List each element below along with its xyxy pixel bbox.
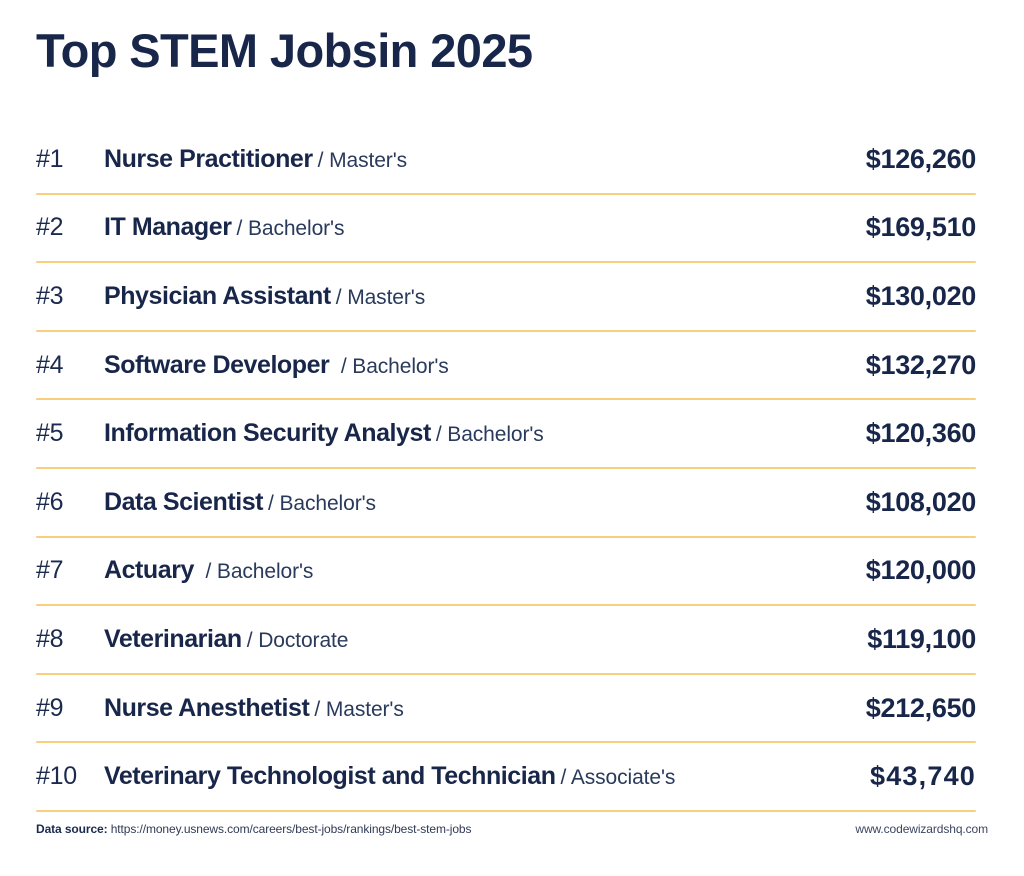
- job-title: Veterinarian: [104, 625, 242, 653]
- job-degree: / Doctorate: [247, 629, 349, 652]
- job-title: Nurse Anesthetist: [104, 694, 309, 722]
- job-degree: / Master's: [318, 149, 407, 172]
- job-rank: #6: [36, 488, 104, 517]
- job-title: Software Developer: [104, 351, 336, 379]
- job-salary: $132,270: [866, 350, 976, 381]
- job-name-cell: Nurse Practitioner/ Master's: [104, 145, 866, 174]
- job-name-cell: Information Security Analyst/ Bachelor's: [104, 419, 866, 448]
- job-degree: / Master's: [336, 286, 425, 309]
- job-degree: / Bachelor's: [205, 560, 313, 583]
- job-salary: $120,360: [866, 418, 976, 449]
- footer-source-label: Data source:: [36, 822, 108, 836]
- job-name-cell: Veterinarian/ Doctorate: [104, 625, 867, 654]
- footer-source: Data source: https://money.usnews.com/ca…: [36, 822, 471, 836]
- job-row: #1Nurse Practitioner/ Master's$126,260: [36, 126, 976, 193]
- job-row: #9Nurse Anesthetist/ Master's$212,650: [36, 675, 976, 742]
- job-rank: #5: [36, 419, 104, 448]
- job-row: #2IT Manager/ Bachelor's$169,510: [36, 195, 976, 262]
- job-rank: #3: [36, 282, 104, 311]
- job-salary: $119,100: [867, 624, 976, 655]
- job-salary: $120,000: [866, 555, 976, 586]
- job-row: #10Veterinary Technologist and Technicia…: [36, 743, 976, 810]
- page-title-main: Top STEM Jobs: [36, 24, 377, 77]
- job-row: #4Software Developer / Bachelor's$132,27…: [36, 332, 976, 399]
- job-salary: $212,650: [866, 693, 976, 724]
- job-salary: $43,740: [870, 761, 976, 792]
- job-row: #3Physician Assistant/ Master's$130,020: [36, 263, 976, 330]
- job-row: #8Veterinarian/ Doctorate$119,100: [36, 606, 976, 673]
- job-salary: $126,260: [866, 144, 976, 175]
- job-degree: / Bachelor's: [436, 423, 544, 446]
- footer-source-url: https://money.usnews.com/careers/best-jo…: [111, 822, 472, 836]
- job-title: IT Manager: [104, 213, 231, 241]
- row-divider: [36, 810, 976, 812]
- job-rank: #2: [36, 213, 104, 242]
- job-degree: / Bachelor's: [268, 492, 376, 515]
- job-title: Data Scientist: [104, 488, 263, 516]
- job-row: #5Information Security Analyst/ Bachelor…: [36, 400, 976, 467]
- job-title: Physician Assistant: [104, 282, 331, 310]
- job-row: #7Actuary / Bachelor's$120,000: [36, 538, 976, 605]
- job-degree: / Master's: [314, 698, 403, 721]
- page-title: Top STEM Jobsin 2025: [36, 27, 532, 74]
- job-title: Veterinary Technologist and Technician: [104, 762, 556, 790]
- job-title: Information Security Analyst: [104, 419, 431, 447]
- job-rank: #8: [36, 625, 104, 654]
- job-salary: $130,020: [866, 281, 976, 312]
- job-rank: #7: [36, 556, 104, 585]
- infographic-card: Top STEM Jobsin 2025 #1Nurse Practitione…: [0, 0, 1024, 876]
- job-salary: $169,510: [866, 212, 976, 243]
- job-salary: $108,020: [866, 487, 976, 518]
- job-rank: #9: [36, 694, 104, 723]
- page-title-accent: in 2025: [377, 24, 532, 77]
- job-degree: / Bachelor's: [341, 355, 449, 378]
- job-rank: #10: [36, 762, 104, 791]
- job-name-cell: Physician Assistant/ Master's: [104, 282, 866, 311]
- jobs-list: #1Nurse Practitioner/ Master's$126,260#2…: [36, 126, 976, 812]
- job-title: Actuary: [104, 556, 200, 584]
- job-name-cell: IT Manager/ Bachelor's: [104, 213, 866, 242]
- job-name-cell: Nurse Anesthetist/ Master's: [104, 694, 866, 723]
- job-name-cell: Veterinary Technologist and Technician/ …: [104, 762, 870, 791]
- job-name-cell: Data Scientist/ Bachelor's: [104, 488, 866, 517]
- job-name-cell: Actuary / Bachelor's: [104, 556, 866, 585]
- job-name-cell: Software Developer / Bachelor's: [104, 351, 866, 380]
- job-title: Nurse Practitioner: [104, 145, 313, 173]
- job-row: #6Data Scientist/ Bachelor's$108,020: [36, 469, 976, 536]
- footer-site-url: www.codewizardshq.com: [855, 822, 988, 836]
- job-degree: / Associate's: [561, 766, 676, 789]
- job-rank: #4: [36, 351, 104, 380]
- job-degree: / Bachelor's: [236, 217, 344, 240]
- footer: Data source: https://money.usnews.com/ca…: [36, 822, 988, 836]
- job-rank: #1: [36, 145, 104, 174]
